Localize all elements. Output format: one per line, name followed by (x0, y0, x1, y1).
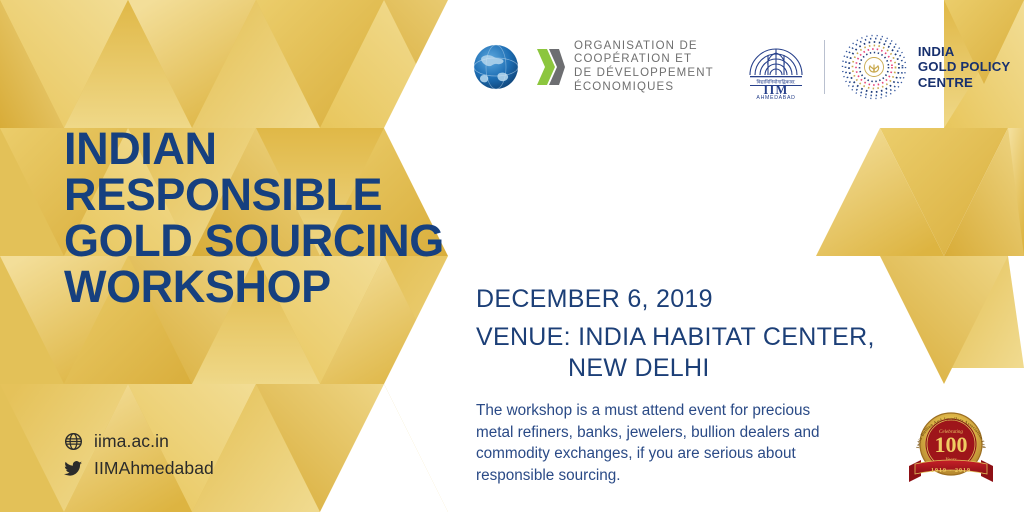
centenary-seal-icon: India Bullion And Jewellers Association … (903, 404, 999, 488)
event-venue-line2: NEW DELHI (476, 353, 876, 384)
website-link[interactable]: iima.ac.in (64, 428, 214, 455)
event-date: DECEMBER 6, 2019 (476, 284, 713, 314)
oecd-chevron-icon (535, 41, 565, 93)
oecd-logo: ORGANISATION DE COOPÉRATION ET DE DÉVELO… (470, 39, 714, 95)
partner-logo-strip: ORGANISATION DE COOPÉRATION ET DE DÉVELO… (470, 32, 1010, 102)
centenary-ribbon: 1919 - 2019 (931, 468, 971, 474)
igpc-logo: INDIA GOLD POLICY CENTRE (841, 34, 1011, 100)
globe-icon (64, 432, 83, 451)
oecd-name: ORGANISATION DE COOPÉRATION ET DE DÉVELO… (574, 40, 714, 94)
website-label: iima.ac.in (94, 431, 169, 452)
twitter-bird-icon (64, 459, 83, 478)
iim-ahmedabad-crest-icon: विद्याविनियोगाद्विकास: IIM AHMEDABAD (744, 31, 808, 99)
centenary-number: 100 (935, 432, 968, 457)
social-links: iima.ac.in IIMAhmedabad (64, 428, 214, 482)
page-title: INDIAN RESPONSIBLE GOLD SOURCING WORKSHO… (64, 126, 534, 310)
event-venue: VENUE: INDIA HABITAT CENTER, NEW DELHI (476, 322, 876, 384)
event-description: The workshop is a must attend event for … (476, 400, 866, 486)
logo-divider (824, 40, 825, 94)
twitter-label: IIMAhmedabad (94, 458, 214, 479)
igpc-name: INDIA GOLD POLICY CENTRE (918, 44, 1011, 90)
iim-ahmedabad-logo: विद्याविनियोगाद्विकास: IIM AHMEDABAD (744, 31, 808, 104)
globe-icon (470, 39, 526, 95)
twitter-link[interactable]: IIMAhmedabad (64, 455, 214, 482)
event-venue-line1: VENUE: INDIA HABITAT CENTER, (476, 323, 875, 351)
svg-text:AHMEDABAD: AHMEDABAD (756, 95, 795, 99)
igpc-mandala-icon (841, 34, 907, 100)
event-banner: ORGANISATION DE COOPÉRATION ET DE DÉVELO… (0, 0, 1024, 512)
